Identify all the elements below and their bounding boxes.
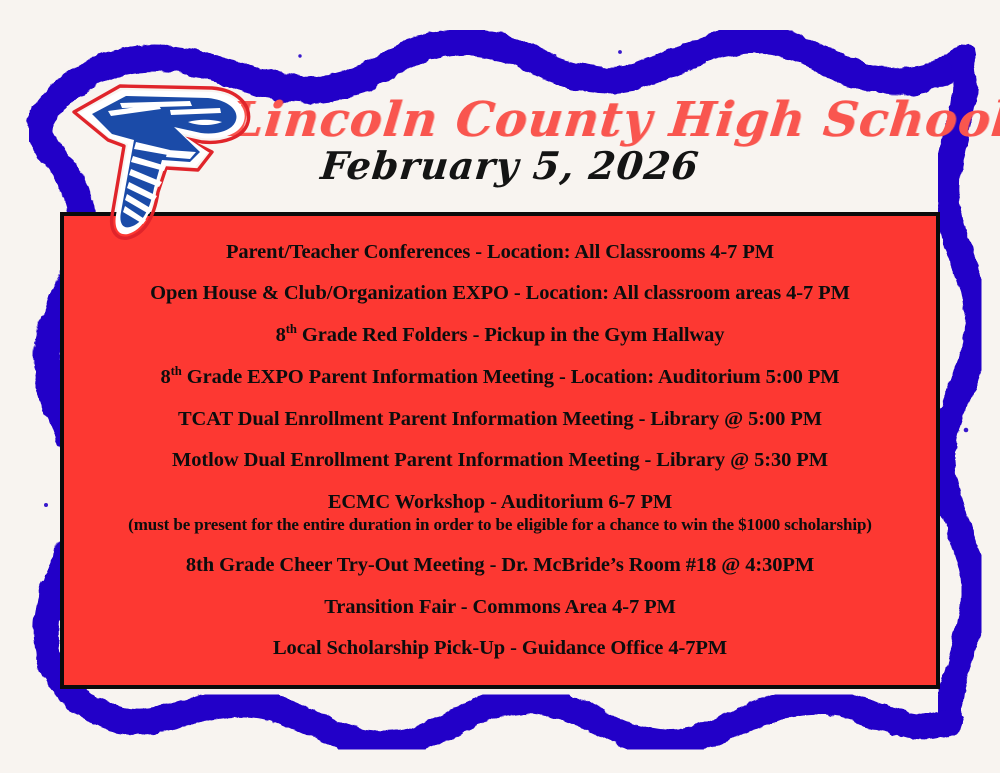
event-item-motlow-dual-enrollment: Motlow Dual Enrollment Parent Informatio… <box>82 449 918 472</box>
event-grade-ordinal: th <box>171 364 182 378</box>
event-item-open-house-expo: Open House & Club/Organization EXPO - Lo… <box>82 282 918 305</box>
falcon-head-logo <box>62 72 262 244</box>
border-bottom-wave <box>120 700 950 744</box>
event-text: Open House & Club/Organization EXPO - Lo… <box>150 282 850 304</box>
flyer-date: February 5, 2026 <box>228 146 792 186</box>
event-grade-number: 8 <box>160 366 170 388</box>
event-item-tcat-dual-enrollment: TCAT Dual Enrollment Parent Information … <box>82 408 918 431</box>
events-panel: Parent/Teacher Conferences - Location: A… <box>60 212 940 689</box>
event-item-expo-parent-info-meeting: 8th Grade EXPO Parent Information Meetin… <box>82 366 918 389</box>
event-grade-number: 8 <box>276 324 286 346</box>
event-text: Local Scholarship Pick-Up - Guidance Off… <box>273 637 727 659</box>
border-right-wave <box>942 58 977 722</box>
event-text: ECMC Workshop - Auditorium 6-7 PM <box>328 491 672 513</box>
event-text: Motlow Dual Enrollment Parent Informatio… <box>172 449 828 471</box>
event-item-transition-fair: Transition Fair - Commons Area 4-7 PM <box>82 596 918 619</box>
event-grade-ordinal: th <box>286 322 297 336</box>
event-item-red-folders: 8th Grade Red Folders - Pickup in the Gy… <box>82 324 918 347</box>
event-item-ecmc-workshop: ECMC Workshop - Auditorium 6-7 PM (must … <box>82 491 918 535</box>
event-text: Parent/Teacher Conferences - Location: A… <box>226 241 774 263</box>
event-text: TCAT Dual Enrollment Parent Information … <box>178 408 822 430</box>
event-text: Grade Red Folders - Pickup in the Gym Ha… <box>297 324 725 346</box>
flyer-canvas: Lincoln County High School February 5, 2… <box>0 0 1000 773</box>
event-item-local-scholarship-pickup: Local Scholarship Pick-Up - Guidance Off… <box>82 637 918 660</box>
falcon-outline <box>74 86 249 238</box>
event-item-parent-teacher-conferences: Parent/Teacher Conferences - Location: A… <box>82 241 918 264</box>
event-text: Transition Fair - Commons Area 4-7 PM <box>324 596 676 618</box>
event-item-cheer-tryout-meeting: 8th Grade Cheer Try-Out Meeting - Dr. Mc… <box>82 554 918 577</box>
event-subtext: (must be present for the entire duration… <box>82 515 918 535</box>
flyer-heading: Lincoln County High School February 5, 2… <box>230 96 790 186</box>
school-name: Lincoln County High School <box>227 96 792 144</box>
event-text: 8th Grade Cheer Try-Out Meeting - Dr. Mc… <box>186 554 814 576</box>
event-text: Grade EXPO Parent Information Meeting - … <box>182 366 840 388</box>
